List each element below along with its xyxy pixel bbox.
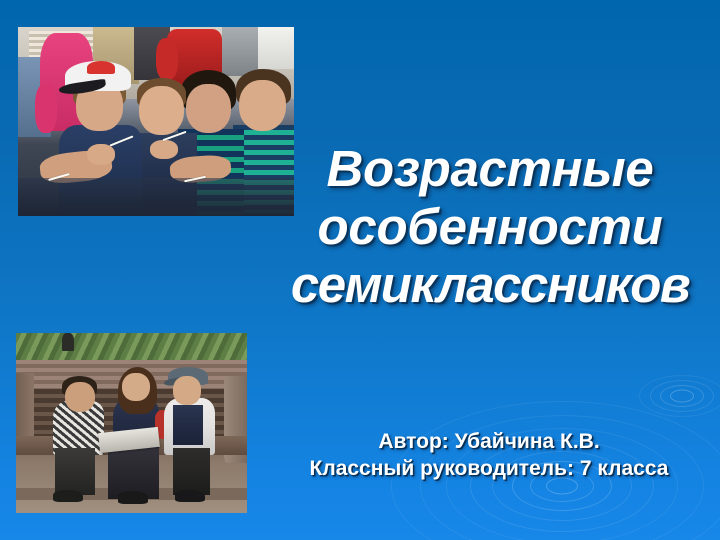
author-name: Автор: Убайчина К.В. — [258, 428, 720, 455]
page-title: Возрастные особенности семиклассников — [262, 140, 718, 314]
presentation-slide: Возрастные особенности семиклассников Ав… — [0, 0, 720, 540]
title-line-3: семиклассников — [262, 256, 718, 314]
teenagers-on-bench-photo — [16, 333, 247, 513]
ripple-decoration-small — [650, 380, 714, 412]
title-line-2: особенности — [262, 198, 718, 256]
teenagers-smoking-photo — [18, 27, 294, 216]
author-role: Классный руководитель: 7 класса — [258, 455, 720, 482]
ripple-decoration-small — [660, 385, 704, 407]
author-block: Автор: Убайчина К.В. Классный руководите… — [258, 428, 720, 482]
ripple-decoration-small — [670, 390, 694, 403]
ripple-decoration-small — [639, 375, 720, 417]
title-line-1: Возрастные — [262, 140, 718, 198]
